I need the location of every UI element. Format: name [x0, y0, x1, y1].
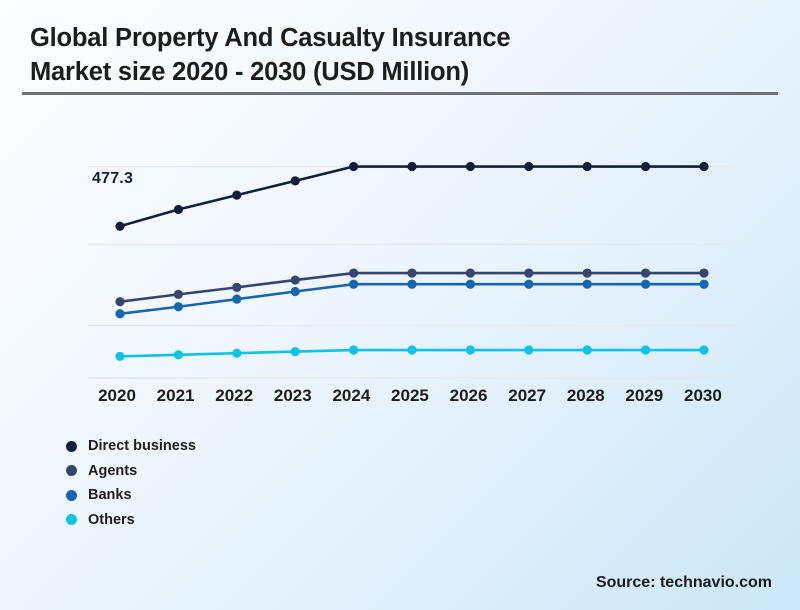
series-point-marker[interactable] [699, 162, 708, 171]
series-point-marker[interactable] [291, 275, 300, 284]
x-axis-tick: 2021 [147, 386, 205, 406]
series-point-marker[interactable] [524, 345, 533, 354]
x-axis-tick: 2029 [615, 386, 673, 406]
series-point-marker[interactable] [641, 280, 650, 289]
legend-item-label: Others [88, 512, 135, 528]
legend-item-label: Banks [88, 487, 132, 503]
series-point-marker[interactable] [115, 222, 124, 231]
x-axis-tick: 2020 [88, 386, 146, 406]
series-point-marker[interactable] [349, 345, 358, 354]
series-point-marker[interactable] [524, 268, 533, 277]
series-point-marker[interactable] [174, 290, 183, 299]
series-point-marker[interactable] [407, 345, 416, 354]
series-point-marker[interactable] [466, 280, 475, 289]
chart-legend: Direct businessAgentsBanksOthers [66, 434, 196, 532]
series-point-marker[interactable] [232, 283, 241, 292]
series-line [120, 167, 704, 227]
series-point-marker[interactable] [699, 345, 708, 354]
series-point-marker[interactable] [699, 268, 708, 277]
series-point-marker[interactable] [291, 287, 300, 296]
series-point-marker[interactable] [349, 268, 358, 277]
series-point-marker[interactable] [232, 295, 241, 304]
legend-item[interactable]: Banks [66, 483, 196, 508]
series-point-marker[interactable] [524, 162, 533, 171]
series-point-marker[interactable] [115, 297, 124, 306]
data-label-first-point: 477.3 [92, 170, 133, 188]
x-axis-tick: 2030 [674, 386, 732, 406]
series-point-marker[interactable] [349, 162, 358, 171]
series-layer [115, 162, 708, 361]
series-point-marker[interactable] [115, 352, 124, 361]
legend-item[interactable]: Others [66, 508, 196, 533]
x-axis-tick: 2027 [498, 386, 556, 406]
series-point-marker[interactable] [466, 345, 475, 354]
chart-plot-area [0, 0, 800, 430]
legend-marker-icon [66, 465, 77, 476]
series-point-marker[interactable] [466, 268, 475, 277]
series-point-marker[interactable] [349, 280, 358, 289]
x-axis-tick: 2023 [264, 386, 322, 406]
series-point-marker[interactable] [583, 268, 592, 277]
series-point-marker[interactable] [583, 345, 592, 354]
legend-marker-icon [66, 441, 77, 452]
series-point-marker[interactable] [583, 280, 592, 289]
legend-marker-icon [66, 514, 77, 525]
legend-item[interactable]: Agents [66, 459, 196, 484]
series-point-marker[interactable] [466, 162, 475, 171]
series-point-marker[interactable] [407, 280, 416, 289]
series-point-marker[interactable] [115, 309, 124, 318]
infographic-canvas: Global Property And Casualty Insurance M… [0, 0, 800, 610]
series-point-marker[interactable] [291, 347, 300, 356]
series-point-marker[interactable] [641, 268, 650, 277]
series-point-marker[interactable] [583, 162, 592, 171]
series-point-marker[interactable] [641, 162, 650, 171]
legend-item-label: Agents [88, 463, 137, 479]
legend-marker-icon [66, 490, 77, 501]
x-axis-tick: 2026 [440, 386, 498, 406]
x-axis-tick: 2025 [381, 386, 439, 406]
legend-item-label: Direct business [88, 438, 196, 454]
line-chart-svg [0, 0, 800, 430]
x-axis-tick: 2022 [205, 386, 263, 406]
series-point-marker[interactable] [174, 302, 183, 311]
x-axis-tick: 2028 [557, 386, 615, 406]
series-point-marker[interactable] [699, 280, 708, 289]
source-caption: Source: technavio.com [596, 574, 772, 592]
series-point-marker[interactable] [174, 205, 183, 214]
series-point-marker[interactable] [407, 268, 416, 277]
legend-item[interactable]: Direct business [66, 434, 196, 459]
x-axis-tick: 2024 [322, 386, 380, 406]
series-point-marker[interactable] [291, 176, 300, 185]
series-point-marker[interactable] [407, 162, 416, 171]
series-point-marker[interactable] [174, 350, 183, 359]
series-point-marker[interactable] [641, 345, 650, 354]
series-point-marker[interactable] [524, 280, 533, 289]
x-axis-labels: 2020202120222023202420252026202720282029… [88, 386, 732, 406]
series-point-marker[interactable] [232, 191, 241, 200]
series-point-marker[interactable] [232, 349, 241, 358]
